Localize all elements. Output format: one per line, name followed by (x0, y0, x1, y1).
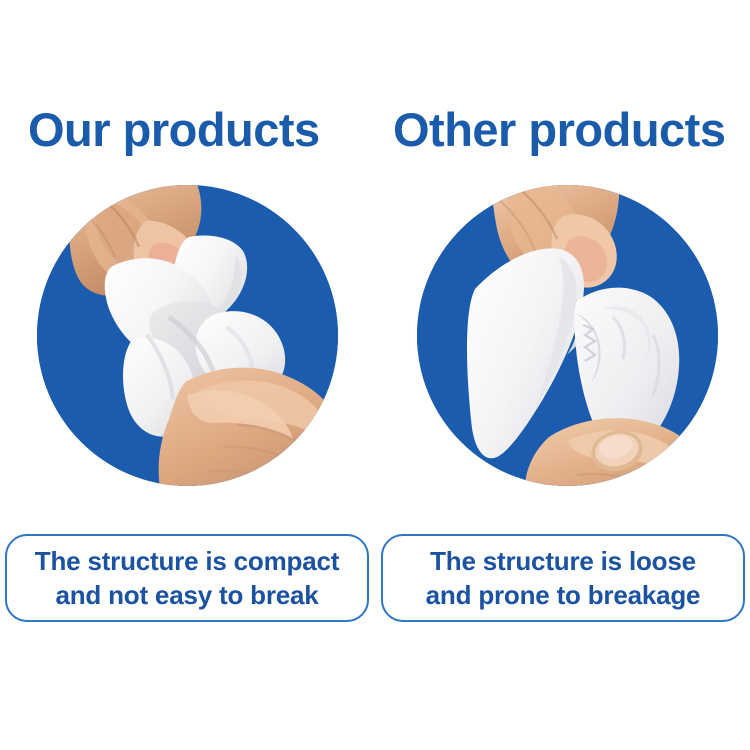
photo-our-products (33, 182, 343, 502)
twisted-sponge-illustration (37, 185, 338, 486)
caption-line-1: The structure is loose (426, 544, 701, 578)
caption-line-2: and not easy to break (35, 578, 339, 612)
photo-scene-left (37, 185, 338, 486)
column-title-our-products: Our products (28, 98, 320, 162)
caption-text-our-products: The structure is compact and not easy to… (29, 544, 345, 612)
column-title-other-products: Other products (393, 98, 725, 162)
photo-other-products (413, 182, 723, 502)
caption-text-other-products: The structure is loose and prone to brea… (420, 544, 707, 612)
product-comparison-page: Our products Other products (0, 0, 750, 750)
caption-line-2: and prone to breakage (426, 578, 701, 612)
torn-sponge-illustration (417, 185, 718, 486)
caption-box-other-products: The structure is loose and prone to brea… (381, 534, 745, 622)
caption-line-1: The structure is compact (35, 544, 339, 578)
column-titles: Our products Other products (0, 98, 750, 168)
caption-box-our-products: The structure is compact and not easy to… (5, 534, 369, 622)
photo-scene-right (417, 185, 718, 486)
